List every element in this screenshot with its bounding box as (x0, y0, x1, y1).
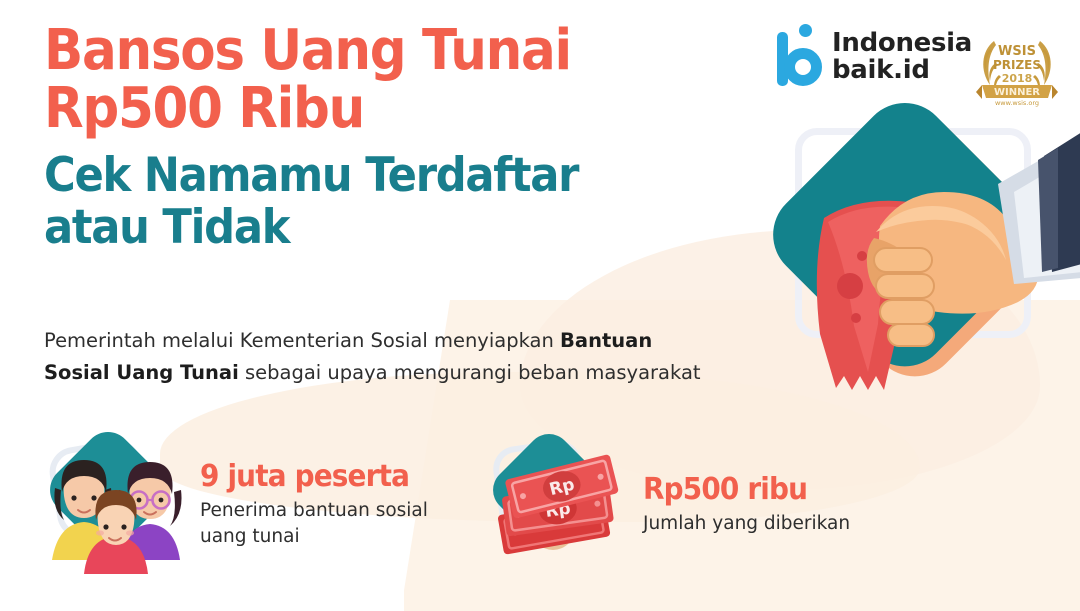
stat-value-amount: Rp500 ribu (643, 473, 836, 507)
stat-text-amount: Rp500 ribu Jumlah yang diberikan (643, 469, 850, 537)
wsis-badge-line2: PRIZES (993, 58, 1041, 72)
brand-name-line2: baik.id (832, 57, 972, 84)
brand-logo[interactable]: Indonesia baik.id (774, 22, 972, 92)
brand-name-line1: Indonesia (832, 30, 972, 57)
stat-item-participants: 9 juta peserta Penerima bantuan sosial u… (34, 432, 450, 574)
hand-holding-cash-icon (752, 96, 1080, 446)
ib-logo-icon (774, 22, 822, 92)
wsis-prizes-badge-icon: WSIS PRIZES 2018 WINNER www.wsis.org (974, 25, 1060, 107)
stat-item-amount: Rp Rp Rp500 ribu Jumlah yang diberikan (477, 432, 850, 574)
wsis-badge-line1: WSIS (998, 44, 1036, 59)
lede-part-1: Pemerintah melalui Kementerian Sosial me… (44, 329, 560, 352)
headline-teal-line-1: Cek Namamu Terdaftar (44, 150, 688, 201)
lede-part-2: sebagai upaya mengurangi beban masyaraka… (239, 361, 701, 384)
money-stack-icon: Rp Rp (477, 432, 627, 574)
headline-block: Bansos Uang Tunai Rp500 Ribu Cek Namamu … (44, 22, 744, 253)
headline-teal-line-2: atau Tidak (44, 202, 688, 253)
infographic-poster: Indonesia baik.id WSIS PRIZES 2018 WINNE… (0, 0, 1080, 611)
brand-wordmark: Indonesia baik.id (832, 30, 972, 83)
headline-red-line-1: Bansos Uang Tunai (44, 22, 688, 80)
family-group-icon (34, 432, 184, 574)
stat-desc-participants: Penerima bantuan sosial uang tunai (200, 498, 450, 551)
stat-value-participants: 9 juta peserta (200, 460, 433, 494)
wsis-badge-year: 2018 (1002, 72, 1033, 85)
stat-text-participants: 9 juta peserta Penerima bantuan sosial u… (200, 456, 450, 550)
ib-logo-dot (799, 24, 812, 37)
headline-red-line-2: Rp500 Ribu (44, 80, 688, 138)
stat-desc-amount: Jumlah yang diberikan (643, 511, 850, 537)
lede-paragraph: Pemerintah melalui Kementerian Sosial me… (44, 325, 716, 388)
ib-logo-bowl (784, 48, 822, 86)
